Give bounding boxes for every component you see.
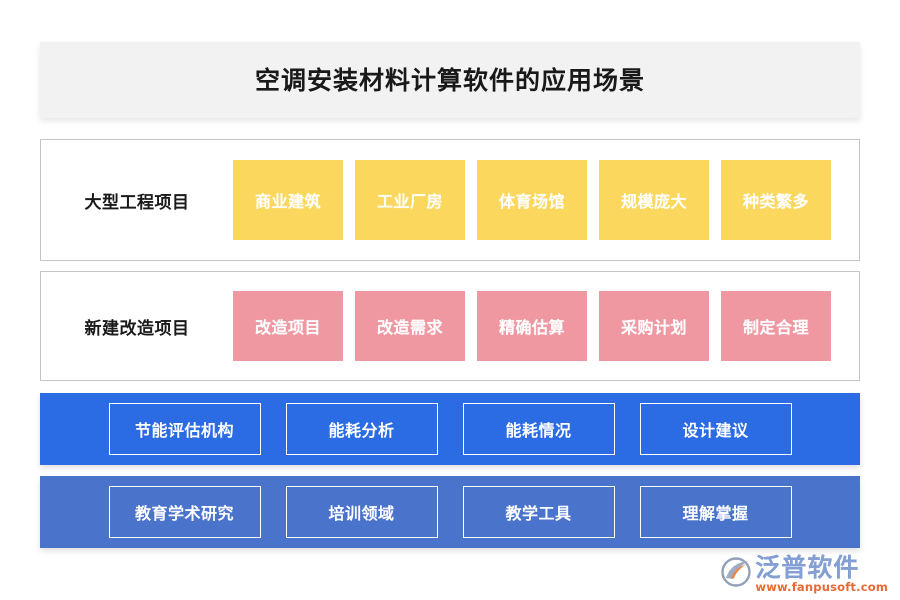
chip-many-types[interactable]: 种类繁多 (721, 160, 831, 240)
chip-reasonable-plan[interactable]: 制定合理 (721, 291, 831, 361)
watermark: 泛普软件 www.fanpusoft.com (721, 555, 888, 594)
band-box-energy-status[interactable]: 能耗情况 (463, 403, 615, 455)
row-label-large-projects: 大型工程项目 (41, 188, 233, 213)
band-box-teaching-tool[interactable]: 教学工具 (463, 486, 615, 538)
chip-renovation-project[interactable]: 改造项目 (233, 291, 343, 361)
chip-strip-large-projects: 商业建筑 工业厂房 体育场馆 规模庞大 种类繁多 (233, 160, 859, 240)
chip-large-scale[interactable]: 规模庞大 (599, 160, 709, 240)
band-box-design-advice[interactable]: 设计建议 (640, 403, 792, 455)
band-box-training-field[interactable]: 培训领域 (286, 486, 438, 538)
band-education-research: 教育学术研究 培训领域 教学工具 理解掌握 (40, 476, 860, 548)
chip-commercial-building[interactable]: 商业建筑 (233, 160, 343, 240)
header-banner: 空调安装材料计算软件的应用场景 (40, 42, 860, 118)
chip-procurement-plan[interactable]: 采购计划 (599, 291, 709, 361)
row-renovation-projects: 新建改造项目 改造项目 改造需求 精确估算 采购计划 制定合理 (40, 271, 860, 381)
chip-renovation-demand[interactable]: 改造需求 (355, 291, 465, 361)
infographic-page: 空调安装材料计算软件的应用场景 大型工程项目 商业建筑 工业厂房 体育场馆 规模… (0, 0, 900, 600)
chip-sports-venue[interactable]: 体育场馆 (477, 160, 587, 240)
band-box-education-research[interactable]: 教育学术研究 (109, 486, 261, 538)
chip-industrial-plant[interactable]: 工业厂房 (355, 160, 465, 240)
watermark-url: www.fanpusoft.com (755, 580, 888, 594)
band-box-energy-analysis[interactable]: 能耗分析 (286, 403, 438, 455)
row-label-renovation-projects: 新建改造项目 (41, 314, 233, 339)
band-box-energy-assessment-agency[interactable]: 节能评估机构 (109, 403, 261, 455)
band-box-understanding[interactable]: 理解掌握 (640, 486, 792, 538)
watermark-text: 泛普软件 www.fanpusoft.com (755, 555, 888, 594)
chip-strip-renovation-projects: 改造项目 改造需求 精确估算 采购计划 制定合理 (233, 291, 859, 361)
chip-accurate-estimate[interactable]: 精确估算 (477, 291, 587, 361)
fanpu-logo-icon (721, 557, 751, 587)
row-large-projects: 大型工程项目 商业建筑 工业厂房 体育场馆 规模庞大 种类繁多 (40, 139, 860, 261)
watermark-brand: 泛普软件 (755, 555, 859, 581)
band-energy-assessment: 节能评估机构 能耗分析 能耗情况 设计建议 (40, 393, 860, 465)
page-title: 空调安装材料计算软件的应用场景 (255, 68, 645, 93)
